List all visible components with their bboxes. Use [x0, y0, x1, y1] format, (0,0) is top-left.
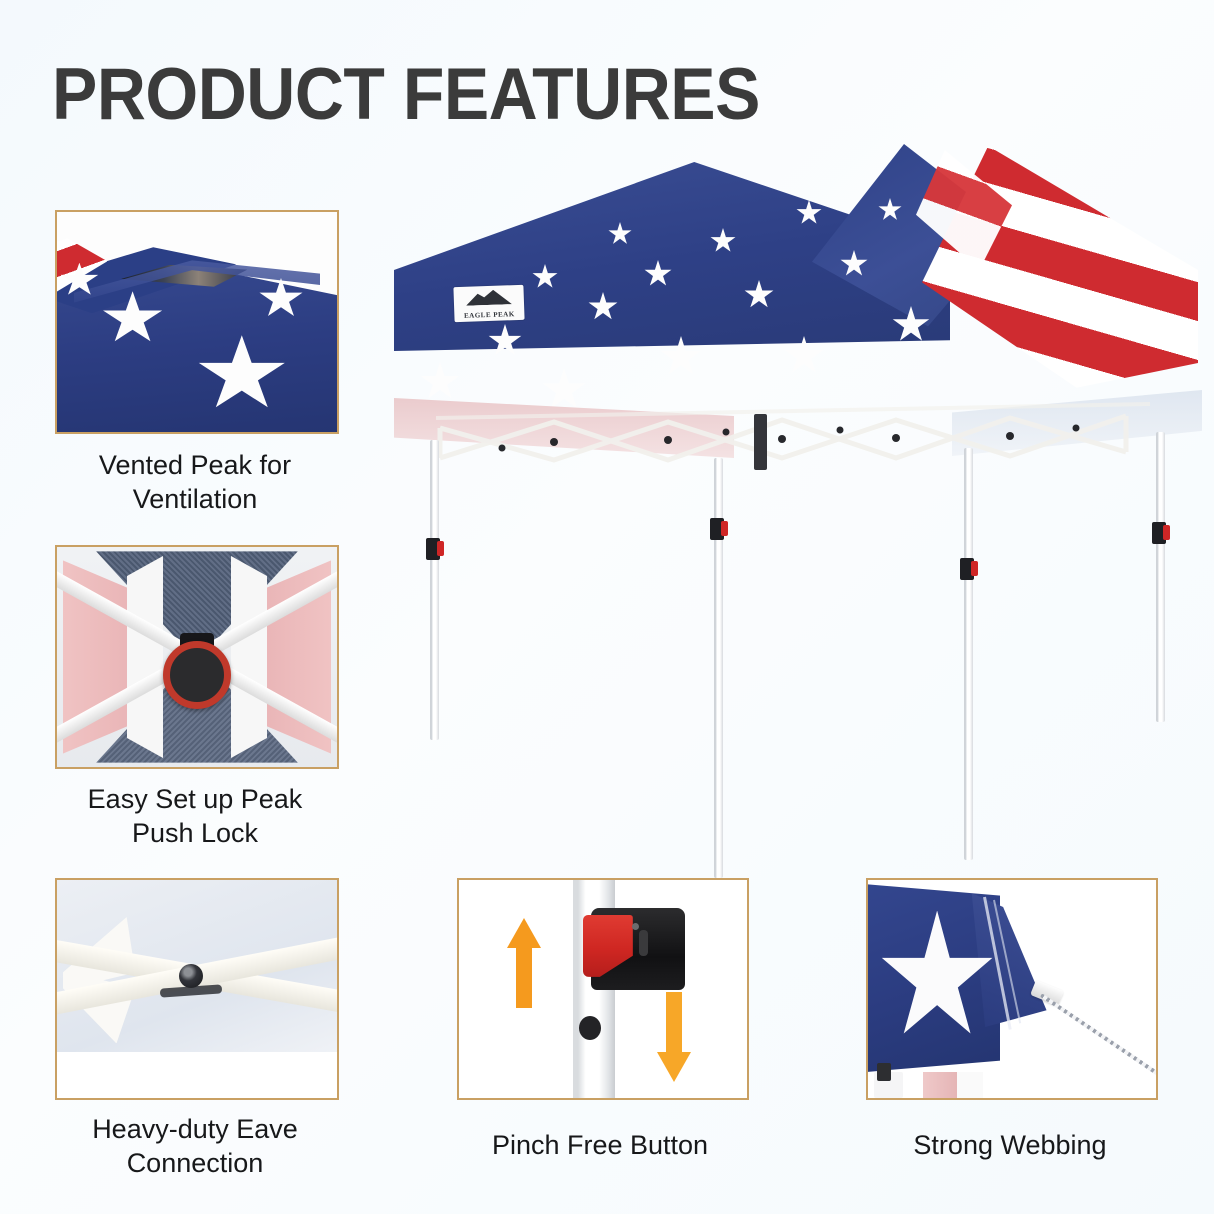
feature-thumbnail-peak-push-lock [55, 545, 339, 769]
caption-line: Easy Set up Peak [40, 782, 350, 816]
peak-push-lock-photo [57, 547, 337, 767]
leg-pole-segment [957, 1072, 983, 1098]
eave-connection-photo [57, 880, 337, 1098]
foot-clip [877, 1063, 891, 1081]
hero-product-image: EAGLE PEAK [392, 140, 1192, 870]
caption-line: Ventilation [40, 482, 350, 516]
scissor-truss-frame [436, 402, 1150, 486]
arrow-down-icon [657, 990, 691, 1082]
caption-line: Strong Webbing [860, 1128, 1160, 1162]
leg-height-button[interactable] [426, 538, 440, 560]
brand-logo-patch: EAGLE PEAK [453, 285, 524, 322]
feature-caption-eave-connection: Heavy-duty Eave Connection [35, 1112, 355, 1181]
caption-line: Vented Peak for [40, 448, 350, 482]
mountain-icon [466, 289, 512, 306]
feature-caption-strong-webbing: Strong Webbing [860, 1128, 1160, 1162]
pinch-free-button-photo [459, 880, 747, 1098]
page-title: PRODUCT FEATURES [52, 58, 760, 131]
arrow-up-icon [507, 918, 541, 1010]
canopy-star [420, 362, 460, 402]
brand-logo-text: EAGLE PEAK [454, 310, 524, 320]
pole-adjust-hole [579, 1016, 601, 1040]
eave-bolt [179, 964, 203, 988]
housing-slot [639, 930, 648, 956]
caption-line: Connection [35, 1146, 355, 1180]
strong-webbing-photo [868, 880, 1156, 1098]
feature-thumbnail-vented-peak [55, 210, 339, 434]
feature-caption-peak-push-lock: Easy Set up Peak Push Lock [40, 782, 350, 851]
caption-line: Pinch Free Button [450, 1128, 750, 1162]
valance-panel [923, 1072, 960, 1098]
feature-thumbnail-eave-connection [55, 878, 339, 1100]
feature-thumbnail-pinch-free-button [457, 878, 749, 1100]
caption-line: Heavy-duty Eave [35, 1112, 355, 1146]
leg-height-button[interactable] [710, 518, 724, 540]
feature-thumbnail-strong-webbing [866, 878, 1158, 1100]
infographic-page: PRODUCT FEATURES [0, 0, 1214, 1214]
vented-peak-photo [57, 212, 337, 432]
photo-lower-white [57, 1052, 337, 1098]
canopy-leg [964, 448, 973, 860]
push-lock-button[interactable] [163, 641, 231, 709]
canopy-panel-white-left [127, 556, 163, 758]
canopy-leg [1156, 432, 1165, 722]
feature-caption-vented-peak: Vented Peak for Ventilation [40, 448, 350, 517]
leg-height-button[interactable] [1152, 522, 1166, 544]
canopy-leg [430, 440, 439, 740]
housing-screw [632, 923, 639, 930]
caption-line: Push Lock [40, 816, 350, 850]
canopy-panel-white-right [231, 556, 267, 758]
feature-caption-pinch-free-button: Pinch Free Button [450, 1128, 750, 1162]
leg-height-button[interactable] [960, 558, 974, 580]
